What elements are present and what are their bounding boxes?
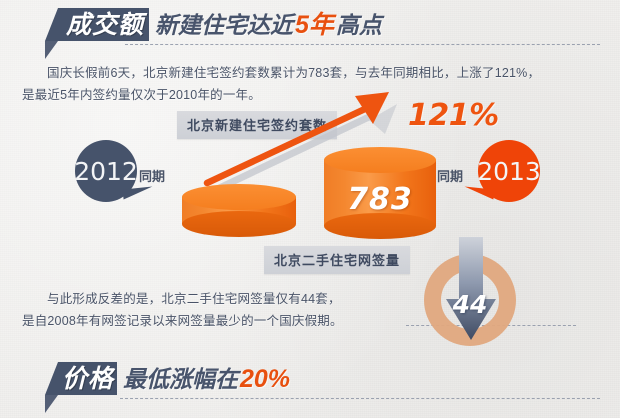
header-dashed-divider: [125, 44, 600, 45]
footer-banner-title: 最低涨幅在20%: [123, 363, 292, 395]
header-banner-suffix: 高点: [336, 12, 382, 38]
paragraph-second: 与此形成反差的是，北京二手住宅网签量仅有44套， 是自2008年有网签记录以来网…: [22, 288, 422, 332]
bar-2012-top-ellipse: [182, 184, 296, 210]
bubble-2012-group: 2012: [75, 140, 147, 192]
bar-2013-value: 783: [324, 182, 436, 217]
paragraph-first-line1: 国庆长假前6天，北京新建住宅签约套数累计为783套，与去年同期相比，上涨了121…: [22, 62, 602, 84]
bubble-2012-note: 同期: [139, 166, 165, 185]
bar-2012: [182, 184, 296, 240]
bubble-2012-tail: [123, 186, 154, 199]
header-banner-highlight: 5年: [293, 11, 336, 39]
bar-2012-bottom-ellipse: [182, 211, 296, 237]
bar-2013: 783: [324, 147, 436, 243]
bubble-2013-year: 2013: [477, 157, 541, 186]
header-banner-tail: [45, 41, 58, 59]
bubble-2013-tail: [464, 186, 495, 199]
bubble-2012-year: 2012: [74, 157, 138, 186]
bar-2013-top-ellipse: [324, 147, 436, 173]
header-banner-key-label: 成交额: [63, 10, 147, 40]
footer-banner-prefix: 最低涨幅在: [123, 366, 238, 392]
infographic-page: 成交额 新建住宅达近5年高点 国庆长假前6天，北京新建住宅签约套数累计为783套…: [0, 0, 620, 418]
header-banner-prefix: 新建住宅达近: [155, 12, 293, 38]
paragraph-second-line1: 与此形成反差的是，北京二手住宅网签量仅有44套，: [22, 288, 422, 310]
footer-banner-key-label: 价格: [61, 364, 115, 394]
bubble-2013-group: 2013: [478, 140, 550, 192]
paragraph-second-line2: 是自2008年有网签记录以来网签量最少的一个国庆假期。: [22, 310, 422, 332]
footer-banner-tail: [45, 395, 58, 413]
growth-percentage-value: 121%: [408, 98, 499, 133]
bubble-2013-note: 同期: [437, 166, 463, 185]
chart2-title-label: 北京二手住宅网签量: [264, 246, 410, 274]
header-banner-title: 新建住宅达近5年高点: [155, 9, 382, 41]
footer-dashed-divider: [120, 398, 600, 399]
footer-banner-highlight: 20%: [238, 365, 292, 393]
decline-value: 44: [424, 290, 516, 319]
